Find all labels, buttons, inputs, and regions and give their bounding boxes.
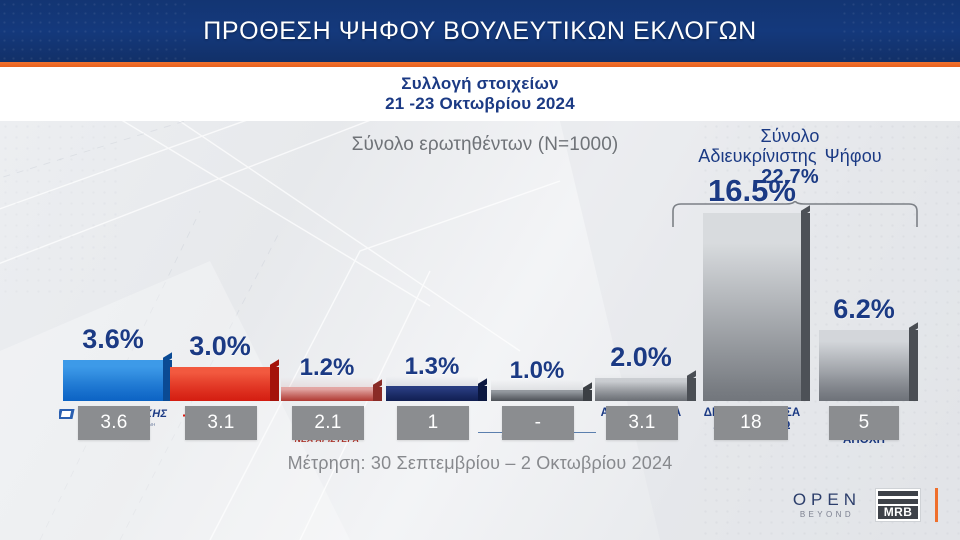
subtitle-line-2: 21 -23 Οκτωβρίου 2024: [385, 94, 575, 114]
bar-front-face: [703, 213, 801, 401]
bar-percent-label: 3.0%: [189, 331, 251, 362]
bar: [170, 367, 270, 401]
previous-value-box: 3.1: [606, 406, 678, 440]
bar: [819, 330, 909, 401]
bar-front-face: [386, 386, 478, 401]
open-beyond-logo: OPEN BEYOND: [793, 491, 861, 519]
mrb-logo-bar-top: [878, 491, 918, 496]
poll-chart-slide: ΠΡΟΘΕΣΗ ΨΗΦΟΥ ΒΟΥΛΕΥΤΙΚΩΝ ΕΚΛΟΓΩΝ Συλλογ…: [0, 0, 960, 540]
previous-value-box: -: [502, 406, 574, 440]
bar-percent-label: 6.2%: [833, 294, 895, 325]
subtitle-line-1: Συλλογή στοιχείων: [401, 74, 558, 94]
bar-percent-label: 2.0%: [610, 342, 672, 373]
previous-value-box: 5: [829, 406, 899, 440]
bar-front-face: [491, 390, 583, 401]
beyond-logo-word: BEYOND: [800, 511, 854, 519]
bar-side-face: [270, 367, 279, 401]
bar-percent-label: 3.6%: [82, 324, 144, 355]
bar-front-face: [170, 367, 270, 401]
bar: [386, 386, 478, 401]
mrb-logo: MRB: [875, 488, 921, 522]
previous-value-box: 18: [714, 406, 788, 440]
bar-side-face: [909, 330, 918, 401]
bar: [491, 390, 583, 401]
bar-percent-label: 16.5%: [708, 173, 796, 209]
foni-logikis-mark: [59, 407, 77, 421]
mrb-logo-bar-mid: [878, 499, 918, 504]
page-title: ΠΡΟΘΕΣΗ ΨΗΦΟΥ ΒΟΥΛΕΥΤΙΚΩΝ ΕΚΛΟΓΩΝ: [0, 0, 960, 62]
chart-body: Σύνολο ερωτηθέντων (Ν=1000) Σύνολο Αδιευ…: [0, 121, 960, 540]
bar-side-face: [687, 378, 696, 401]
bar-front-face: [595, 378, 687, 401]
mrb-logo-text: MRB: [878, 506, 918, 519]
bar: [703, 213, 801, 401]
previous-value-box: 3.1: [185, 406, 257, 440]
previous-value-box: 2.1: [292, 406, 364, 440]
bar: [595, 378, 687, 401]
previous-value-box: 3.6: [78, 406, 150, 440]
bar-front-face: [819, 330, 909, 401]
broadcaster-logos: OPEN BEYOND MRB: [793, 481, 938, 529]
bar-front-face: [63, 360, 163, 401]
bar-side-face: [801, 213, 810, 401]
orange-accent-tick: [935, 488, 938, 522]
open-logo-word: OPEN: [793, 491, 861, 508]
bar-percent-label: 1.2%: [300, 354, 355, 382]
subtitle-block: Συλλογή στοιχείων 21 -23 Οκτωβρίου 2024: [0, 67, 960, 121]
bar-percent-label: 1.3%: [405, 353, 460, 381]
bar-front-face: [281, 387, 373, 401]
bars-plot: 3.6%ΦΩΝΗ ΛΟΓΙΚΗΣΚΙΝΗΜΑ ΓΙΑ ΤΗ ΔΙΚΑΙΟΣΥΝΗ…: [0, 121, 960, 540]
bar: [281, 387, 373, 401]
previous-measurement-note: Μέτρηση: 30 Σεπτεμβρίου – 2 Οκτωβρίου 20…: [0, 453, 960, 474]
bar-percent-label: 1.0%: [510, 357, 565, 385]
bar: [63, 360, 163, 401]
previous-value-box: 1: [397, 406, 469, 440]
